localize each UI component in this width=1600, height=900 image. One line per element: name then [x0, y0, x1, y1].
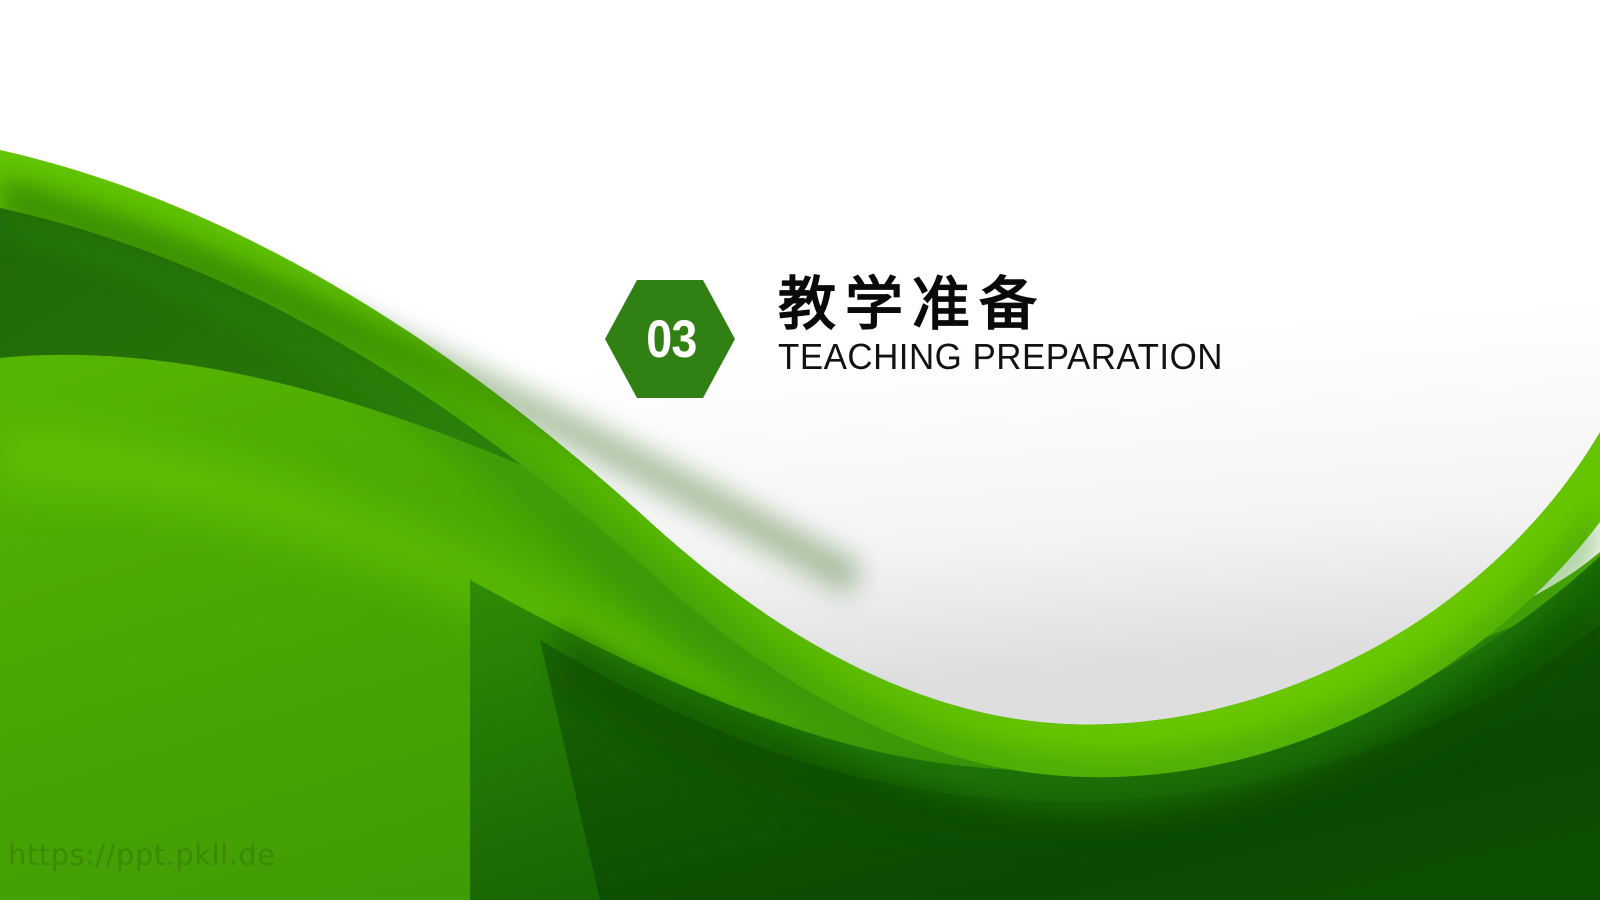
section-number-badge: 03: [604, 278, 736, 400]
slide-canvas: 03 教学准备 TEACHING PREPARATION https://ppt…: [0, 0, 1600, 900]
section-number-text: 03: [612, 278, 728, 400]
section-title-english: TEACHING PREPARATION: [778, 339, 1223, 375]
section-title-block: 教学准备 TEACHING PREPARATION: [778, 272, 1237, 375]
section-heading: 03 教学准备 TEACHING PREPARATION: [604, 272, 1237, 400]
watermark-url: https://ppt.pkll.de: [8, 838, 276, 872]
decorative-wave-background: [0, 0, 1600, 900]
section-title-chinese: 教学准备: [778, 274, 1237, 335]
